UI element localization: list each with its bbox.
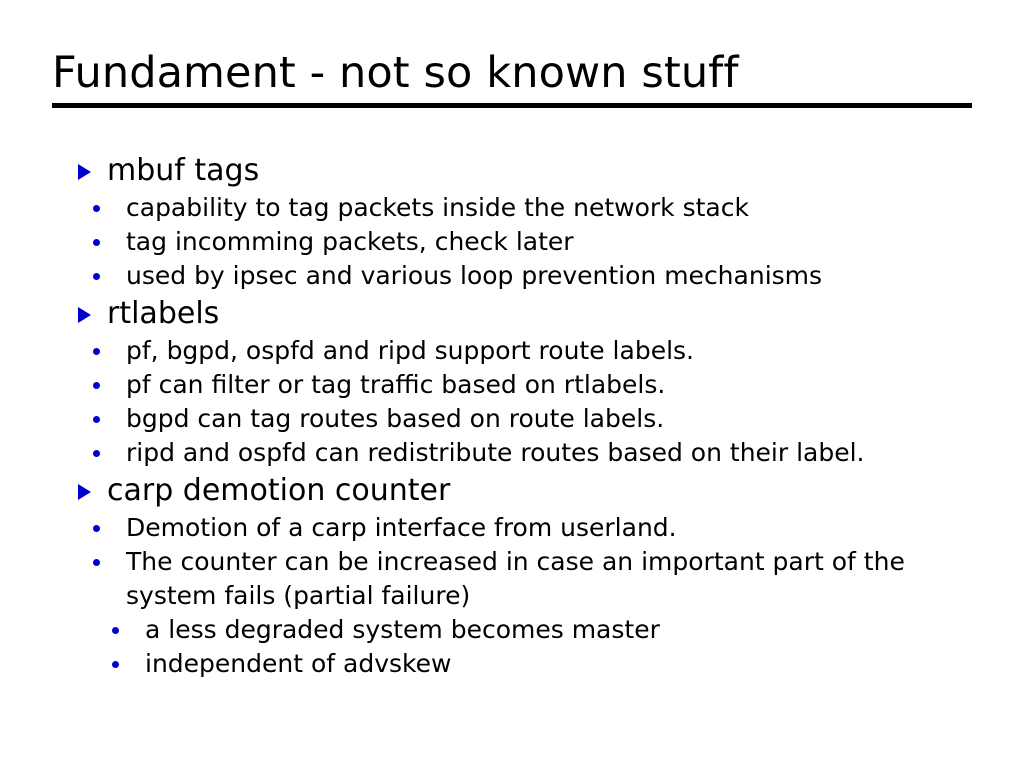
- outline-section-rtlabels: rtlabels pf, bgpd, ospfd and ripd suppor…: [0, 293, 1024, 470]
- presentation-slide: Fundament - not so known stuff mbuf tags…: [0, 0, 1024, 768]
- dot-bullet-icon: [93, 525, 100, 532]
- list-item-label: bgpd can tag routes based on route label…: [126, 402, 1024, 436]
- sub-list-level2: capability to tag packets inside the net…: [107, 191, 1024, 293]
- section-heading-label: carp demotion counter: [107, 470, 1024, 511]
- slide-title-block: Fundament - not so known stuff: [52, 48, 972, 108]
- section-heading-row: carp demotion counter: [107, 470, 1024, 511]
- list-item-label: independent of advskew: [145, 647, 1024, 681]
- list-item: pf can filter or tag traffic based on rt…: [107, 368, 1024, 402]
- triangle-bullet-icon: [78, 164, 91, 180]
- list-item-label: The counter can be increased in case an …: [126, 545, 916, 613]
- dot-bullet-icon: [93, 273, 100, 280]
- sub-list-level2: Demotion of a carp interface from userla…: [107, 511, 1024, 681]
- list-item: capability to tag packets inside the net…: [107, 191, 1024, 225]
- list-item-label: ripd and ospfd can redistribute routes b…: [126, 436, 1024, 470]
- title-underline-rule: [52, 103, 972, 108]
- list-item-label: used by ipsec and various loop preventio…: [126, 259, 1024, 293]
- list-item-label: pf can filter or tag traffic based on rt…: [126, 368, 1024, 402]
- list-item-label: capability to tag packets inside the net…: [126, 191, 1024, 225]
- list-item: used by ipsec and various loop preventio…: [107, 259, 1024, 293]
- list-item: independent of advskew: [126, 647, 1024, 681]
- sub-list-level3: a less degraded system becomes master in…: [126, 613, 1024, 681]
- list-item: ripd and ospfd can redistribute routes b…: [107, 436, 1024, 470]
- dot-bullet-icon: [93, 382, 100, 389]
- dot-bullet-icon: [112, 661, 119, 668]
- list-item-label: tag incomming packets, check later: [126, 225, 1024, 259]
- section-heading-row: rtlabels: [107, 293, 1024, 334]
- triangle-bullet-icon: [78, 484, 91, 500]
- sub-list-level2: pf, bgpd, ospfd and ripd support route l…: [107, 334, 1024, 470]
- dot-bullet-icon: [93, 205, 100, 212]
- section-heading-label: rtlabels: [107, 293, 1024, 334]
- list-item: a less degraded system becomes master: [126, 613, 1024, 647]
- page-title: Fundament - not so known stuff: [52, 48, 972, 98]
- outline-section-mbuf-tags: mbuf tags capability to tag packets insi…: [0, 150, 1024, 293]
- dot-bullet-icon: [93, 239, 100, 246]
- list-item: Demotion of a carp interface from userla…: [107, 511, 1024, 545]
- list-item: pf, bgpd, ospfd and ripd support route l…: [107, 334, 1024, 368]
- dot-bullet-icon: [93, 416, 100, 423]
- section-heading-label: mbuf tags: [107, 150, 1024, 191]
- outline-list: mbuf tags capability to tag packets insi…: [0, 150, 1024, 681]
- list-item: tag incomming packets, check later: [107, 225, 1024, 259]
- list-item-label: pf, bgpd, ospfd and ripd support route l…: [126, 334, 1024, 368]
- list-item: bgpd can tag routes based on route label…: [107, 402, 1024, 436]
- dot-bullet-icon: [93, 559, 100, 566]
- list-item: The counter can be increased in case an …: [107, 545, 1024, 681]
- triangle-bullet-icon: [78, 307, 91, 323]
- section-heading-row: mbuf tags: [107, 150, 1024, 191]
- dot-bullet-icon: [93, 450, 100, 457]
- outline-section-carp-demotion-counter: carp demotion counter Demotion of a carp…: [0, 470, 1024, 681]
- list-item-label: Demotion of a carp interface from userla…: [126, 511, 1024, 545]
- list-item-label: a less degraded system becomes master: [145, 613, 1024, 647]
- slide-body: mbuf tags capability to tag packets insi…: [0, 150, 1024, 681]
- dot-bullet-icon: [93, 348, 100, 355]
- dot-bullet-icon: [112, 627, 119, 634]
